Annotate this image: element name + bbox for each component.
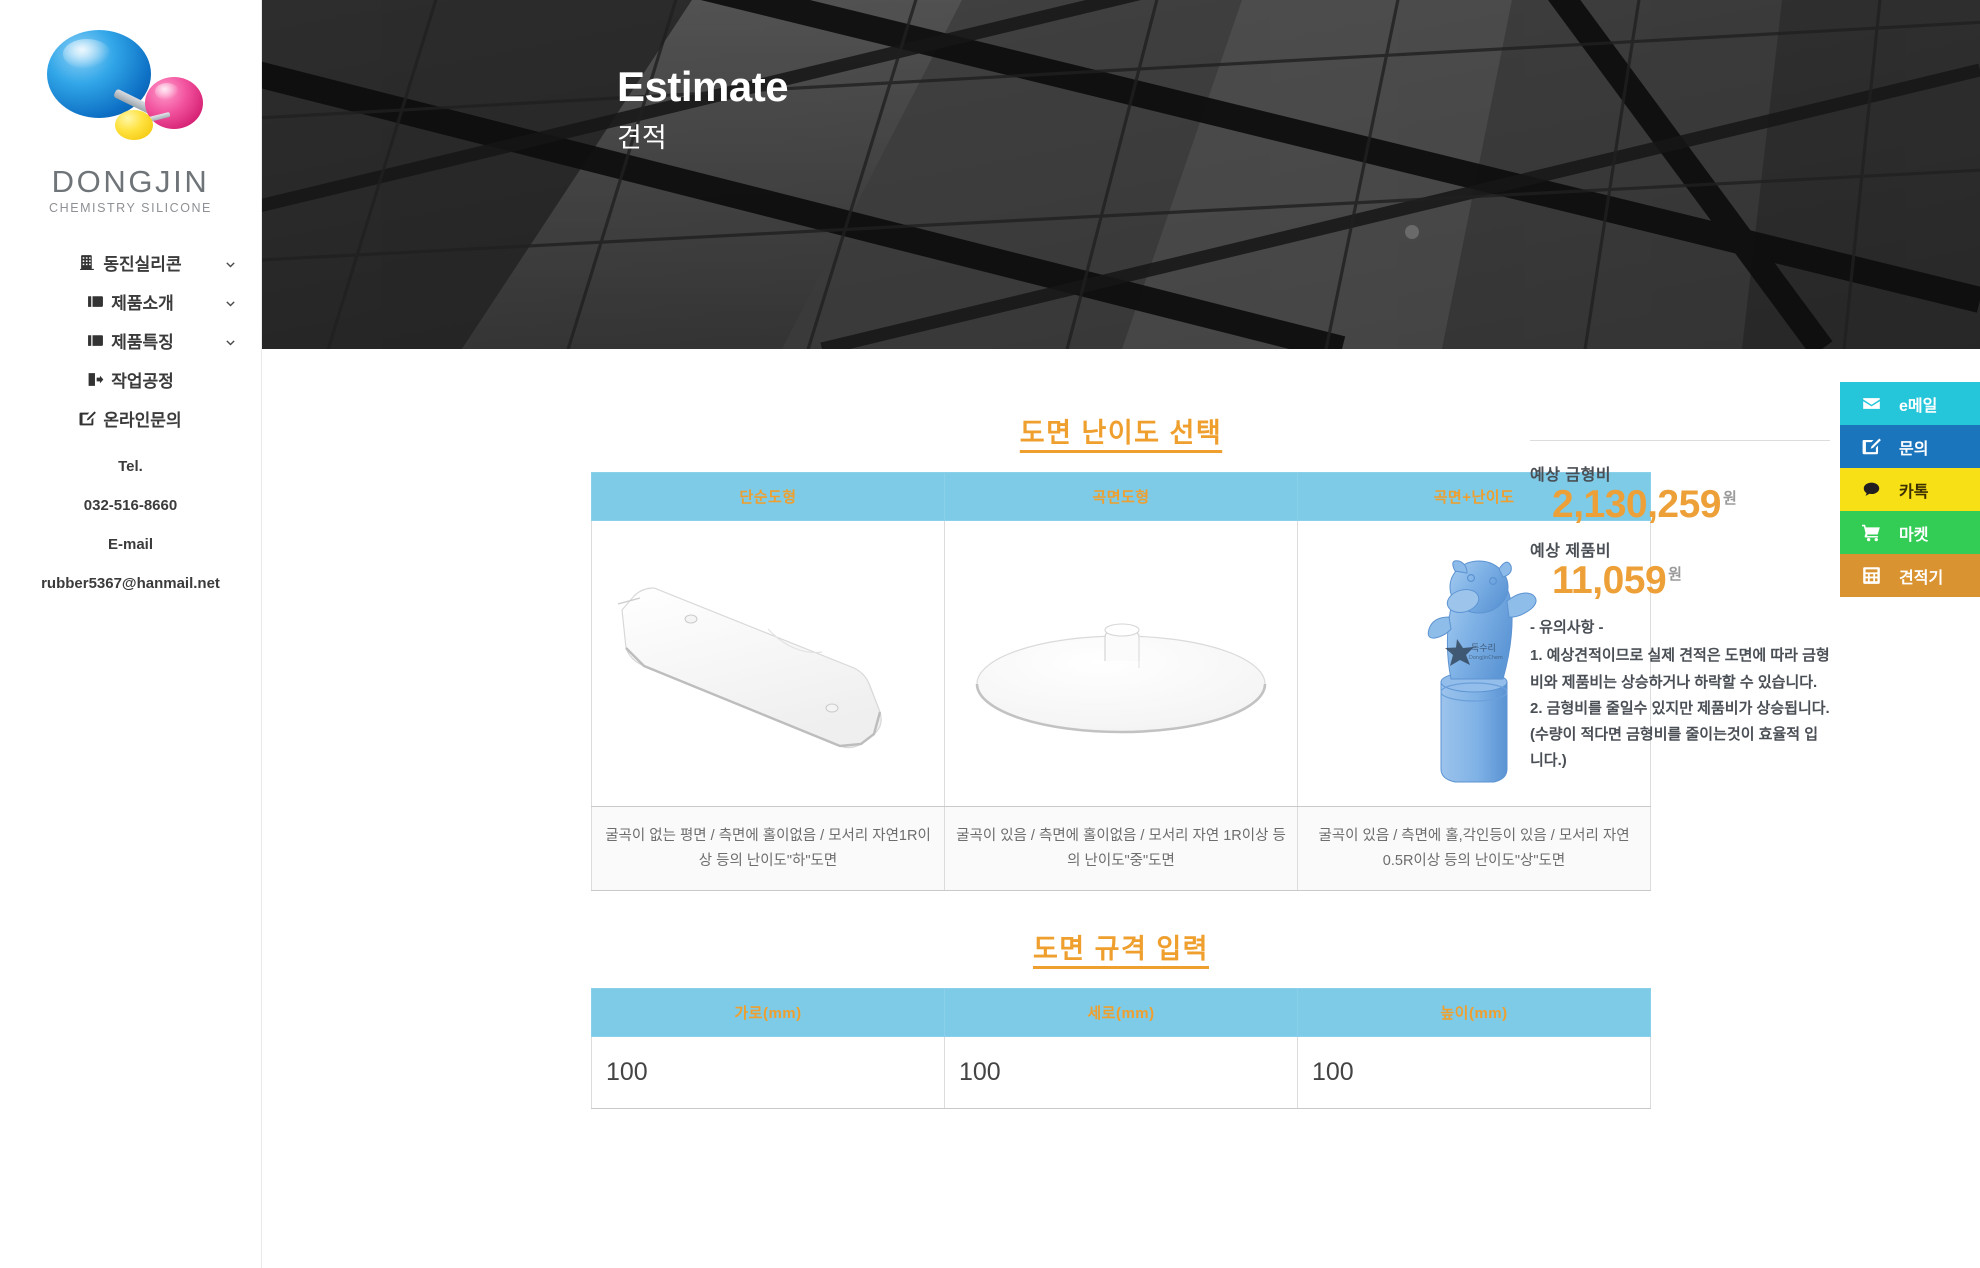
panel-divider: [1530, 440, 1830, 441]
page-title: Estimate: [617, 65, 788, 109]
molecule-logo-icon: [41, 22, 221, 162]
difficulty-desc-simple: 굴곡이 없는 평면 / 측면에 홀이없음 / 모서리 자연1R이상 등의 난이도…: [592, 807, 945, 891]
tel-value: 032-516-8660: [0, 497, 261, 514]
spec-header-height: 높이(mm): [1298, 989, 1651, 1037]
difficulty-option-simple[interactable]: [592, 521, 945, 807]
quick-tab-label: 문의: [1899, 435, 1928, 459]
difficulty-header-simple[interactable]: 단순도형: [592, 473, 945, 521]
difficulty-desc-curved: 굴곡이 있음 / 측면에 홀이없음 / 모서리 자연 1R이상 등의 난이도"중…: [945, 807, 1298, 891]
shopping-cart-icon: [1862, 523, 1881, 542]
product-cost-value: 11,059: [1552, 559, 1666, 602]
sidebar-item-features[interactable]: 제품특징: [0, 321, 261, 360]
mold-cost-label: 예상 금형비: [1530, 461, 1830, 485]
difficulty-table-wrap: 단순도형 곡면도형 곡면+난이도: [591, 472, 1651, 891]
sidebar: DONGJIN CHEMISTRY SILICONE 동진실리콘: [0, 0, 262, 1268]
email-value[interactable]: rubber5367@hanmail.net: [0, 575, 261, 594]
hero-background-image: [262, 0, 1980, 349]
spec-header-row: 가로(mm) 세로(mm) 높이(mm): [592, 989, 1651, 1037]
spec-header-width: 가로(mm): [592, 989, 945, 1037]
sidebar-item-process[interactable]: 작업공정: [0, 360, 261, 399]
pencil-square-icon: [79, 410, 96, 427]
pencil-square-icon: [1862, 437, 1881, 456]
spec-input-width[interactable]: 100: [606, 1058, 930, 1087]
notice-item-1: 1. 예상견적이므로 실제 견적은 도면에 따라 금형비와 제품비는 상승하거나…: [1530, 643, 1830, 696]
hero-text: Estimate 견적: [617, 65, 788, 155]
chat-bubble-icon: [1862, 480, 1881, 499]
tel-label: Tel.: [0, 458, 261, 475]
difficulty-header-curved[interactable]: 곡면도형: [945, 473, 1298, 521]
quick-tab-label: 마켓: [1899, 521, 1928, 545]
mold-cost-row: 2,130,259원: [1530, 483, 1830, 527]
table-header-row: 단순도형 곡면도형 곡면+난이도: [592, 473, 1651, 521]
building-icon: [79, 254, 96, 271]
quick-tab-label: e메일: [1899, 392, 1937, 416]
quick-tab-estimator[interactable]: 견적기: [1840, 554, 1980, 597]
notice-block: - 유의사항 - 1. 예상견적이므로 실제 견적은 도면에 따라 금형비와 제…: [1530, 615, 1830, 775]
chevron-down-icon[interactable]: [224, 295, 237, 308]
brand-name: DONGJIN: [52, 164, 210, 200]
spec-input-depth[interactable]: 100: [959, 1058, 1283, 1087]
difficulty-desc-curved-complex: 굴곡이 있음 / 측면에 홀,각인등이 있음 / 모서리 자연0.5R이상 등의…: [1298, 807, 1651, 891]
logo[interactable]: DONGJIN CHEMISTRY SILICONE: [0, 0, 262, 215]
spec-header-depth: 세로(mm): [945, 989, 1298, 1037]
chevron-down-icon[interactable]: [224, 334, 237, 347]
spec-section-title: 도면 규격 입력: [262, 927, 1980, 966]
layers-icon: [87, 332, 104, 349]
estimate-panel: 예상 금형비 2,130,259원 예상 제품비 11,059원 - 유의사항 …: [1530, 440, 1830, 775]
sidebar-item-label: 작업공정: [111, 367, 174, 392]
flat-plate-part-image: [592, 521, 944, 806]
sidebar-contact: Tel. 032-516-8660 E-mail rubber5367@hanm…: [0, 458, 261, 594]
mold-cost-unit: 원: [1723, 490, 1737, 507]
quick-tab-label: 카톡: [1899, 478, 1928, 502]
spec-input-depth-cell[interactable]: 100: [945, 1037, 1298, 1109]
difficulty-option-curved[interactable]: [945, 521, 1298, 807]
notice-heading: - 유의사항 -: [1530, 615, 1830, 641]
difficulty-desc-row: 굴곡이 없는 평면 / 측면에 홀이없음 / 모서리 자연1R이상 등의 난이도…: [592, 807, 1651, 891]
sidebar-item-label: 동진실리콘: [103, 250, 181, 275]
spec-table: 가로(mm) 세로(mm) 높이(mm) 100 100: [591, 988, 1651, 1109]
sidebar-item-products[interactable]: 제품소개: [0, 282, 261, 321]
svg-text:DongjinChem: DongjinChem: [1469, 655, 1503, 661]
mold-cost-value: 2,130,259: [1552, 483, 1721, 526]
main-content: Estimate 견적 도면 난이도 선택 단순도형 곡면도형 곡면+난이도: [262, 0, 1980, 1268]
quick-tab-email[interactable]: e메일: [1840, 382, 1980, 425]
product-cost-row: 11,059원: [1530, 559, 1830, 603]
curved-dome-part-image: [945, 521, 1297, 806]
sidebar-nav: 동진실리콘 제품소개: [0, 243, 261, 438]
product-cost-unit: 원: [1668, 566, 1682, 583]
sidebar-item-online-inquiry[interactable]: 온라인문의: [0, 399, 261, 438]
spec-input-height-cell[interactable]: 100: [1298, 1037, 1651, 1109]
process-icon: [87, 371, 104, 388]
layers-icon: [87, 293, 104, 310]
sidebar-item-company[interactable]: 동진실리콘: [0, 243, 261, 282]
product-cost-label: 예상 제품비: [1530, 537, 1830, 561]
calculator-icon: [1862, 566, 1881, 585]
quick-tab-market[interactable]: 마켓: [1840, 511, 1980, 554]
difficulty-table: 단순도형 곡면도형 곡면+난이도: [591, 472, 1651, 891]
page-root: DONGJIN CHEMISTRY SILICONE 동진실리콘: [0, 0, 1980, 1268]
sidebar-item-label: 제품특징: [111, 328, 174, 353]
spec-input-height[interactable]: 100: [1312, 1058, 1636, 1087]
spec-table-wrap: 가로(mm) 세로(mm) 높이(mm) 100 100: [591, 988, 1651, 1109]
notice-item-2: 2. 금형비를 줄일수 있지만 제품비가 상승됩니다. (수량이 적다면 금형비…: [1530, 696, 1830, 775]
quick-tab-kakao[interactable]: 카톡: [1840, 468, 1980, 511]
chevron-down-icon[interactable]: [224, 256, 237, 269]
sidebar-item-label: 제품소개: [111, 289, 174, 314]
spec-value-row: 100 100 100: [592, 1037, 1651, 1109]
page-subtitle: 견적: [617, 116, 788, 155]
difficulty-image-row: 독수리 DongjinChem: [592, 521, 1651, 807]
quick-tab-label: 견적기: [1899, 564, 1943, 588]
quick-tab-inquiry[interactable]: 문의: [1840, 425, 1980, 468]
floating-quick-tabs: e메일 문의 카톡 마켓: [1840, 382, 1980, 597]
spec-input-width-cell[interactable]: 100: [592, 1037, 945, 1109]
hero-banner: Estimate 견적: [262, 0, 1980, 349]
email-label: E-mail: [0, 536, 261, 553]
sidebar-item-label: 온라인문의: [103, 406, 181, 431]
svg-text:독수리: 독수리: [1471, 643, 1496, 654]
envelope-icon: [1862, 394, 1881, 413]
brand-tagline: CHEMISTRY SILICONE: [49, 201, 212, 215]
